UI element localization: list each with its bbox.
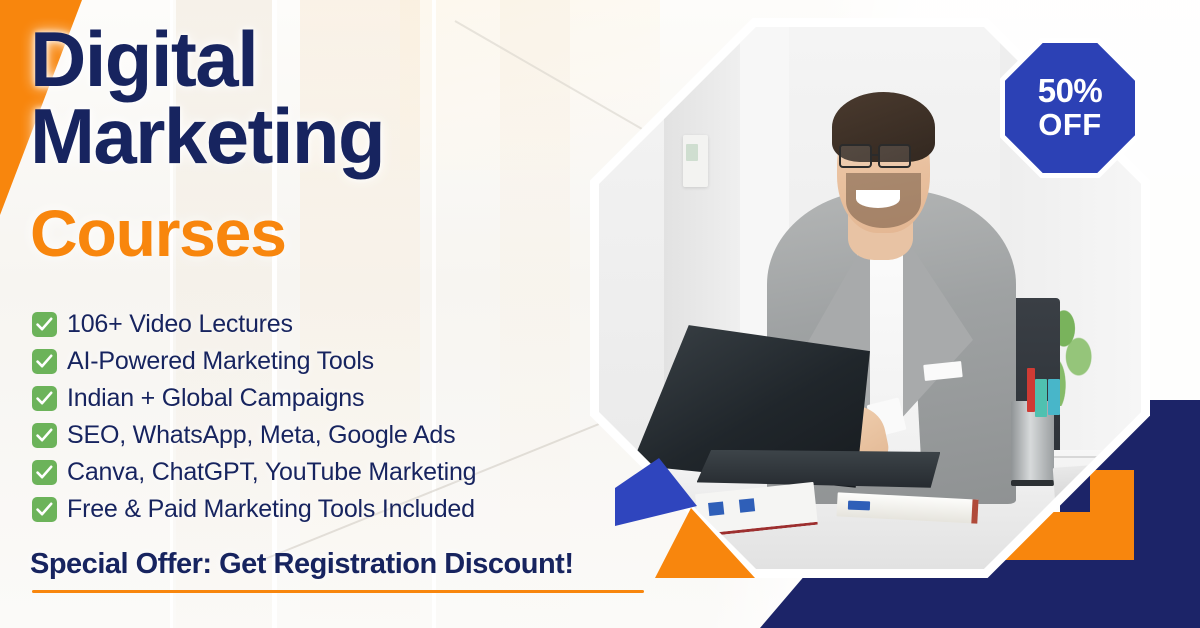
headline-line-3: Courses [30, 200, 590, 266]
marker-teal [1035, 379, 1046, 417]
wall-thermostat [683, 135, 708, 186]
promo-banner: 50% OFF Digital Marketing Courses 106+ V… [0, 0, 1200, 628]
feature-label: 106+ Video Lectures [67, 310, 293, 339]
list-item: 106+ Video Lectures [32, 306, 612, 343]
laptop-keyboard-base [697, 450, 941, 488]
discount-badge[interactable]: 50% OFF [1000, 38, 1140, 178]
feature-label: Canva, ChatGPT, YouTube Marketing [67, 458, 476, 487]
feature-list: 106+ Video Lectures AI-Powered Marketing… [32, 306, 612, 528]
headline-line-1: Digital [30, 22, 590, 97]
badge-off-text: OFF [1038, 109, 1102, 142]
check-icon [32, 312, 57, 337]
feature-label: Free & Paid Marketing Tools Included [67, 495, 475, 524]
check-icon [32, 497, 57, 522]
feature-label: AI-Powered Marketing Tools [67, 347, 374, 376]
eyeglasses-lens-left [839, 144, 873, 169]
check-icon [32, 386, 57, 411]
person-smile [856, 190, 899, 208]
list-item: SEO, WhatsApp, Meta, Google Ads [32, 417, 612, 454]
badge-percent-text: 50% [1038, 74, 1103, 109]
list-item: Canva, ChatGPT, YouTube Marketing [32, 454, 612, 491]
offer-underline-rule [32, 590, 644, 593]
feature-label: SEO, WhatsApp, Meta, Google Ads [67, 421, 455, 450]
eyeglasses-lens-right [878, 144, 912, 169]
check-icon [32, 423, 57, 448]
blue-pen-on-desk [848, 500, 870, 509]
headline-block: Digital Marketing Courses [30, 22, 590, 266]
list-item: AI-Powered Marketing Tools [32, 343, 612, 380]
headline-line-2: Marketing [30, 99, 590, 174]
badge-octagon: 50% OFF [1005, 43, 1135, 173]
check-icon [32, 349, 57, 374]
marker-blue [1048, 379, 1059, 415]
pen-red [1027, 368, 1036, 411]
feature-label: Indian + Global Campaigns [67, 384, 364, 413]
list-item: Free & Paid Marketing Tools Included [32, 491, 612, 528]
special-offer-text: Special Offer: Get Registration Discount… [30, 548, 573, 581]
check-icon [32, 460, 57, 485]
list-item: Indian + Global Campaigns [32, 380, 612, 417]
eyeglasses-bridge [872, 154, 879, 156]
